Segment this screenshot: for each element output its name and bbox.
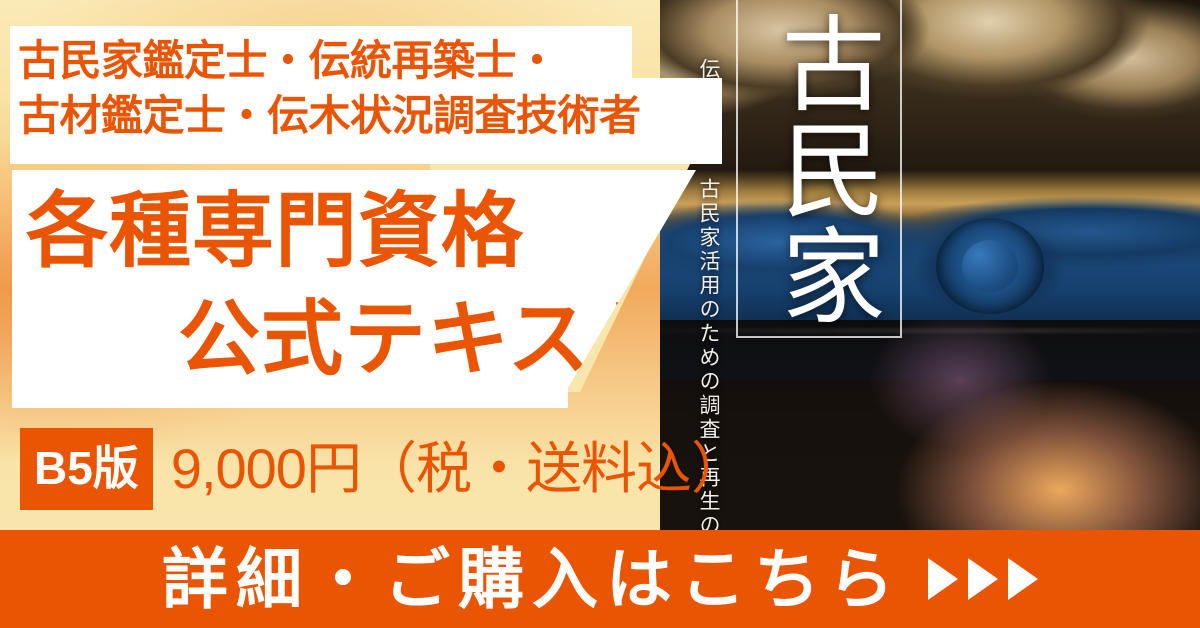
size-badge: B5版 [20, 428, 153, 510]
warm-bokeh-glow [660, 320, 1200, 534]
cta-label: 詳細・ご購入はこちら [162, 546, 902, 612]
certifications-text: 古民家鑑定士・伝統再築士・ 古材鑑定士・伝木状況調査技術者 [18, 34, 722, 143]
price-amount: 9,000円（税・送料込） [171, 441, 746, 497]
promo-banner: 古民家 伝統構法 古民家活用のための調査と再生の 古民家鑑定士・伝統再築士・ 古… [0, 0, 1200, 628]
play-arrow-icon [1008, 558, 1038, 600]
cta-arrows [928, 558, 1038, 600]
certifications-panel: 古民家鑑定士・伝統再築士・ 古材鑑定士・伝木状況調査技術者 [10, 26, 722, 164]
headline-text: 各種専門資格 公式テキスト [26, 178, 674, 394]
play-arrow-icon [928, 558, 958, 600]
book-title-vertical: 古民家 [756, 10, 880, 328]
cta-button[interactable]: 詳細・ご購入はこちら [0, 530, 1200, 628]
certifications-line-1: 古民家鑑定士・伝統再築士・ [18, 34, 722, 89]
certifications-line-2: 古材鑑定士・伝木状況調査技術者 [18, 89, 722, 144]
price-row: B5版 9,000円（税・送料込） [0, 408, 700, 530]
headline-line-1: 各種専門資格 [26, 178, 674, 286]
family-crest-medallion [936, 218, 1044, 314]
play-arrow-icon [968, 558, 998, 600]
